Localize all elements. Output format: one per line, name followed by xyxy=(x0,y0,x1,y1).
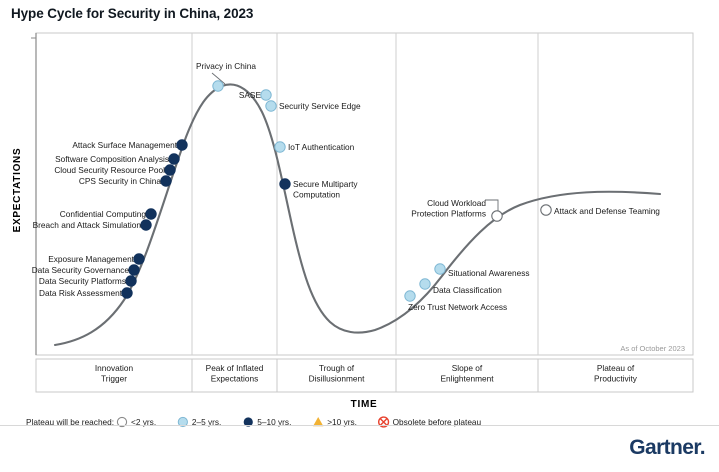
hype-point[interactable]: Cloud Security Resource Pool xyxy=(54,165,175,175)
hype-point-label: IoT Authentication xyxy=(288,142,355,152)
gartner-wordmark: Gartner xyxy=(629,436,700,459)
marker-dot[interactable] xyxy=(275,142,285,152)
hype-point-label: Cloud Security Resource Pool xyxy=(54,165,165,175)
marker-dot[interactable] xyxy=(141,220,151,230)
hype-point[interactable]: Attack and Defense Teaming xyxy=(541,205,661,216)
hype-point[interactable]: Breach and Attack Simulation xyxy=(33,220,152,230)
marker-dot[interactable] xyxy=(213,81,223,91)
hype-point[interactable]: Data Security Platforms xyxy=(39,276,136,286)
hype-point-label: Privacy in China xyxy=(196,61,256,71)
hype-point-label: CPS Security in China xyxy=(79,176,161,186)
hype-cycle-chart: Data Risk AssessmentData Security Platfo… xyxy=(0,0,719,472)
marker-dot[interactable] xyxy=(169,154,179,164)
marker-dot[interactable] xyxy=(165,165,175,175)
marker-dot[interactable] xyxy=(435,264,445,274)
gartner-logo: Gartner. xyxy=(629,436,705,460)
hype-point-label: Data Security Platforms xyxy=(39,276,126,286)
hype-point-label: SASE xyxy=(239,90,262,100)
hype-point-label: Breach and Attack Simulation xyxy=(33,220,142,230)
hype-point-label: Security Service Edge xyxy=(279,101,361,111)
marker-dot[interactable] xyxy=(177,140,187,150)
hype-point-label: Attack Surface Management xyxy=(72,140,177,150)
hype-point-label: Data Risk Assessment xyxy=(39,288,123,298)
hype-point[interactable]: Security Service Edge xyxy=(266,101,361,111)
y-axis-label: EXPECTATIONS xyxy=(12,148,23,233)
hype-point[interactable]: Data Security Governance xyxy=(32,265,140,275)
plot-frame xyxy=(36,33,693,355)
hype-point-label: Software Composition Analysis xyxy=(55,154,169,164)
marker-dot[interactable] xyxy=(161,176,171,186)
hype-point[interactable]: Software Composition Analysis xyxy=(55,154,179,164)
hype-point[interactable]: CPS Security in China xyxy=(79,176,171,186)
phase-label-2: Peak of InflatedExpectations xyxy=(206,363,264,384)
hype-point-label: Exposure Management xyxy=(48,254,134,264)
phase-band: InnovationTriggerPeak of InflatedExpecta… xyxy=(36,359,693,392)
marker-dot[interactable] xyxy=(280,179,290,189)
x-axis-label: TIME xyxy=(351,399,378,410)
marker-dot[interactable] xyxy=(134,254,144,264)
gartner-logo-dot: . xyxy=(700,436,705,459)
marker-dot[interactable] xyxy=(126,276,136,286)
hype-point[interactable]: SASE xyxy=(239,90,271,100)
marker-dot[interactable] xyxy=(420,279,430,289)
hype-point-label: Situational Awareness xyxy=(448,268,530,278)
marker-dot[interactable] xyxy=(146,209,156,219)
phase-label-5: Plateau ofProductivity xyxy=(594,363,638,384)
hype-point[interactable]: Confidential Computing xyxy=(60,209,156,219)
as-of-note: As of October 2023 xyxy=(620,344,685,353)
hype-point-label: Data Classification xyxy=(433,285,502,295)
hype-point[interactable]: Data Risk Assessment xyxy=(39,288,132,298)
marker-dot[interactable] xyxy=(541,205,551,215)
marker-dot[interactable] xyxy=(266,101,276,111)
hype-point-label: Zero Trust Network Access xyxy=(408,302,507,312)
hype-point-label: Data Security Governance xyxy=(32,265,130,275)
chart-svg: Data Risk AssessmentData Security Platfo… xyxy=(0,0,719,440)
marker-dot[interactable] xyxy=(122,288,132,298)
hype-point-label: Confidential Computing xyxy=(60,209,147,219)
hype-point-label: Attack and Defense Teaming xyxy=(554,206,660,216)
hype-point[interactable]: Exposure Management xyxy=(48,254,144,264)
marker-dot[interactable] xyxy=(261,90,271,100)
marker-dot[interactable] xyxy=(492,211,502,221)
marker-dot[interactable] xyxy=(129,265,139,275)
footer-divider xyxy=(0,425,719,426)
hype-point[interactable]: Attack Surface Management xyxy=(72,140,187,150)
marker-dot[interactable] xyxy=(405,291,415,301)
